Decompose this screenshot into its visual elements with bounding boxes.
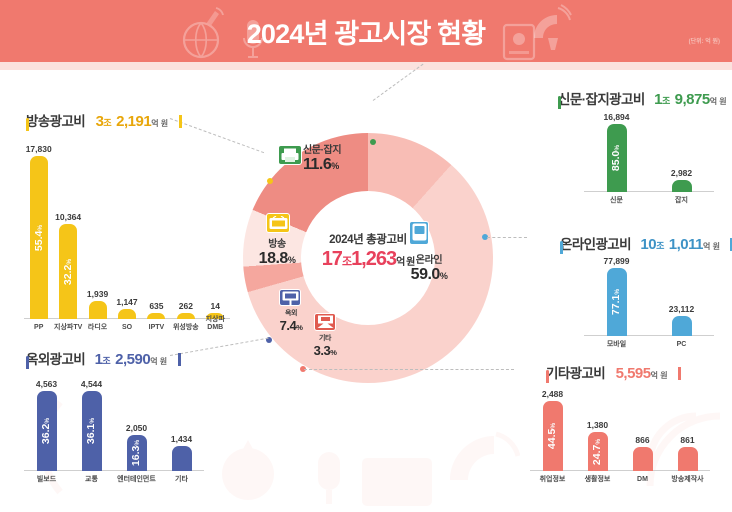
bar — [633, 447, 653, 471]
bar-group: 1,147 — [118, 279, 136, 319]
bar-value-label: 17,830 — [9, 144, 69, 154]
watermark-satellite-dish-icon — [446, 430, 520, 504]
bar-category-label: PC — [650, 341, 714, 349]
bar-percent-label: 77.1% — [611, 289, 623, 315]
broadcast-bar-chart: 55.4%17,830PP32.2%10,364지상파TV1,939라디오1,1… — [24, 140, 230, 335]
bar-value-label: 77,899 — [587, 256, 647, 266]
bar — [147, 313, 165, 319]
bar-value-label: 2,488 — [523, 389, 583, 399]
watermark-globe-antenna-icon — [208, 432, 288, 504]
bar-value-label: 2,050 — [107, 423, 167, 433]
bar-value-label: 16,894 — [587, 112, 647, 122]
bar-group: 1,939 — [89, 271, 107, 319]
bar-group: 36.2%4,563 — [37, 361, 57, 471]
bar-group: 1,434 — [172, 416, 192, 471]
bar — [172, 446, 192, 471]
title-bar-left — [26, 356, 29, 369]
section-title-others: 기타광고비 5,595억 원 — [546, 362, 681, 383]
slice-label-others: 기타 3.3% — [301, 333, 349, 358]
bar-category-label: 지상파DMB — [183, 316, 247, 332]
bar — [672, 180, 692, 192]
section-title-online: 온라인광고비 10조 1,011억 원 — [560, 233, 732, 254]
bar: 55.4% — [30, 156, 48, 319]
leader-line-online — [487, 237, 527, 238]
bar-group: 77.1%77,899 — [607, 238, 627, 336]
bar-percent-label: 55.4% — [33, 224, 45, 250]
bar-percent-label: 36.1% — [86, 418, 98, 444]
newspaper-magazine-bar-chart: 85.0%16,894신문2,982잡지 — [584, 108, 714, 208]
connector-dot-broadcast — [267, 178, 273, 184]
bar — [678, 447, 698, 471]
header-accent-strip — [0, 62, 732, 70]
section-title-newspaper-magazine: 신문·잡지광고비 1조 9,875억 원 — [558, 88, 732, 109]
bar-value-label: 4,544 — [62, 379, 122, 389]
bar-group: 55.4%17,830 — [30, 126, 48, 319]
bar — [672, 316, 692, 336]
chart-axis — [584, 191, 714, 192]
online-bar-chart: 77.1%77,899모바일23,112PC — [584, 252, 714, 352]
bar-group: 24.7%1,380 — [588, 402, 608, 471]
bar-value-label: 10,364 — [38, 212, 98, 222]
slice-label-newspaper-magazine: 신문·잡지 11.6% — [303, 141, 403, 174]
envelope-ad-icon — [314, 313, 336, 331]
title-bar-left — [560, 241, 563, 254]
page-title: 2024년 광고시장 현황 — [0, 12, 732, 51]
bar: 77.1% — [607, 268, 627, 336]
bar-category-label: 신문 — [585, 197, 649, 205]
bar-group: 861 — [678, 417, 698, 471]
printer-ad-icon — [278, 145, 302, 165]
bar-group: 14 — [206, 283, 224, 319]
bar-group: 36.1%4,544 — [82, 361, 102, 471]
slice-label-outdoor: 옥외 7.4% — [261, 308, 321, 333]
bar: 85.0% — [607, 124, 627, 192]
bar-group: 32.2%10,364 — [59, 194, 77, 319]
title-bar-right — [179, 115, 182, 128]
bar: 24.7% — [588, 432, 608, 471]
bar-group: 2,982 — [672, 150, 692, 192]
title-bar-left — [558, 96, 561, 109]
bar-category-label: 잡지 — [650, 197, 714, 205]
bar: 32.2% — [59, 224, 77, 319]
bar-value-label: 1,434 — [152, 434, 212, 444]
section-title-broadcast: 방송광고비 3조 2,191억 원 — [26, 110, 182, 131]
bar-value-label: 14 — [185, 301, 245, 311]
bar-value-label: 2,982 — [652, 168, 712, 178]
slice-label-broadcast: 방송 18.8% — [244, 235, 310, 268]
bar-group: 44.5%2,488 — [543, 371, 563, 471]
watermark-microphone-icon — [308, 450, 350, 506]
bar-percent-label: 44.5% — [547, 423, 559, 449]
bar: 36.1% — [82, 391, 102, 471]
watermark-tablet-icon — [360, 456, 440, 512]
bar-group: 16.3%2,050 — [127, 405, 147, 471]
chart-axis — [584, 335, 714, 336]
leader-line-others — [304, 369, 514, 370]
outdoor-bar-chart: 36.2%4,563빌보드36.1%4,544교통16.3%2,050엔터테인먼… — [24, 375, 204, 487]
bar-percent-label: 16.3% — [131, 440, 143, 466]
bar-percent-label: 24.7% — [592, 438, 604, 464]
bar-category-label: 모바일 — [585, 341, 649, 349]
title-bar-left — [26, 118, 29, 131]
bar: 16.3% — [127, 435, 147, 471]
unit-note: (단위: 억 원) — [689, 36, 720, 45]
connector-dot-newspaper — [370, 139, 376, 145]
bar-percent-label: 32.2% — [62, 259, 74, 285]
bar-percent-label: 36.2% — [41, 418, 53, 444]
bar-category-label: 방송제작사 — [656, 476, 720, 484]
bar: 44.5% — [543, 401, 563, 471]
slice-label-online: 온라인 59.0% — [391, 251, 467, 284]
title-bar-right — [678, 367, 681, 380]
bar-value-label: 23,112 — [652, 304, 712, 314]
total-ad-spend-donut-chart: 2024년 총광고비 17조1,263억 원 신문·잡지 11.6% 방송 18… — [243, 133, 493, 383]
bar-percent-label: 85.0% — [611, 145, 623, 171]
mobile-ad-icon — [409, 221, 429, 245]
bar-value-label: 1,380 — [568, 420, 628, 430]
bar-group: 85.0%16,894 — [607, 94, 627, 192]
bar-group: 866 — [633, 417, 653, 471]
title-bar-right — [178, 353, 181, 366]
bar: 36.2% — [37, 391, 57, 471]
others-bar-chart: 44.5%2,488취업정보24.7%1,380생활정보866DM861방송제작… — [530, 385, 710, 487]
bar-group: 23,112 — [672, 286, 692, 336]
billboard-ad-icon — [279, 289, 301, 306]
tv-ad-icon — [266, 213, 290, 233]
bar-value-label: 861 — [658, 435, 718, 445]
page-header: 2024년 광고시장 현황 (단위: 억 원) — [0, 0, 732, 62]
bar-category-label: 기타 — [150, 476, 214, 484]
